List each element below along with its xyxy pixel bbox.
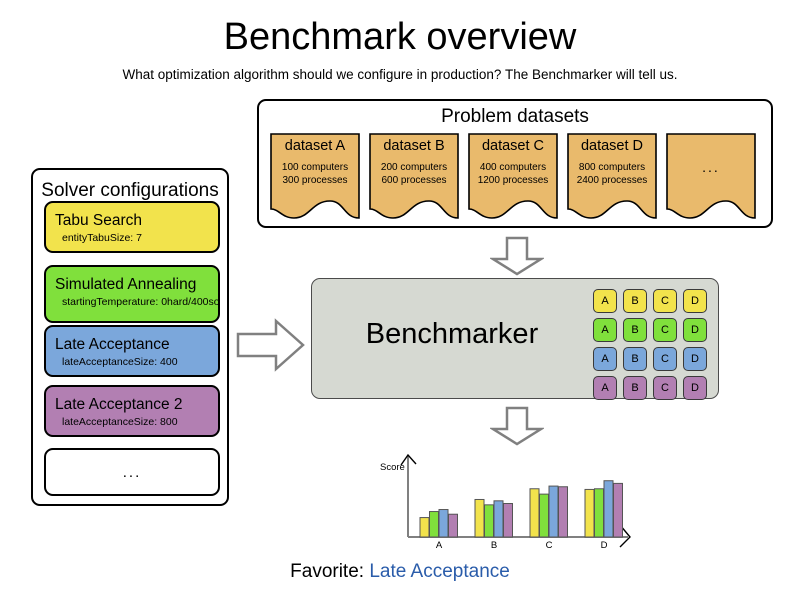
chart-y-axis-label: Score (380, 462, 405, 473)
chart-bar (504, 504, 513, 538)
dataset-shape (270, 133, 360, 219)
chart-x-tick-label: D (601, 540, 608, 551)
benchmark-chip[interactable]: B (623, 347, 647, 371)
arrow-down-datasets-to-benchmarker (490, 236, 544, 276)
solver-configurations-panel: Solver configurations Tabu Search entity… (31, 168, 229, 506)
chart-x-tick-label: B (491, 540, 497, 551)
dataset-shape (567, 133, 657, 219)
benchmark-chip[interactable]: A (593, 289, 617, 313)
benchmark-matrix: ABCDABCDABCDABCD (593, 289, 707, 400)
solver-config-name: Tabu Search (55, 212, 218, 229)
benchmark-chip[interactable]: B (623, 318, 647, 342)
solver-config-card-late-acceptance[interactable]: Late Acceptance lateAcceptanceSize: 400 (44, 325, 220, 377)
chart-bar (595, 489, 604, 537)
solver-config-card-late-acceptance-2[interactable]: Late Acceptance 2 lateAcceptanceSize: 80… (44, 385, 220, 437)
dataset-shape (468, 133, 558, 219)
chart-bar (449, 514, 458, 537)
solver-config-param: startingTemperature: 0hard/400soft (55, 296, 218, 309)
benchmark-chip[interactable]: A (593, 376, 617, 400)
chart-bar (485, 505, 494, 537)
chart-bar (549, 486, 558, 537)
favorite-result: Favorite: Late Acceptance (0, 560, 800, 584)
dataset-shape (666, 133, 756, 219)
benchmarker-box[interactable]: Benchmarker ABCDABCDABCDABCD (311, 278, 719, 399)
benchmark-chip[interactable]: D (683, 289, 707, 313)
solver-config-name: Late Acceptance (55, 336, 218, 353)
chart-x-tick-label: C (546, 540, 553, 551)
dataset-shape (369, 133, 459, 219)
chart-svg: ScoreABCD (378, 448, 650, 553)
problem-datasets-list: dataset A100 computers300 processesdatas… (270, 133, 756, 219)
problem-datasets-title: Problem datasets (259, 105, 771, 129)
benchmark-result-chart: ScoreABCD (378, 448, 650, 553)
benchmark-chip[interactable]: C (653, 318, 677, 342)
dataset-card[interactable]: dataset B200 computers600 processes (369, 133, 459, 219)
chart-bar (585, 489, 594, 537)
chart-bar (494, 501, 503, 537)
solver-config-card-simulated-annealing[interactable]: Simulated Annealing startingTemperature:… (44, 265, 220, 323)
solver-config-card-more[interactable]: ... (44, 448, 220, 496)
benchmark-chip[interactable]: D (683, 318, 707, 342)
chart-bar (559, 487, 568, 537)
solver-config-ellipsis-label: ... (123, 464, 142, 481)
dataset-card[interactable]: dataset C400 computers1200 processes (468, 133, 558, 219)
chart-x-tick-label: A (436, 540, 443, 551)
benchmark-chip[interactable]: D (683, 376, 707, 400)
dataset-card[interactable]: dataset D800 computers2400 processes (567, 133, 657, 219)
solver-config-name: Simulated Annealing (55, 276, 218, 293)
chart-bar (439, 510, 448, 537)
arrow-right-configs-to-benchmarker (236, 318, 306, 372)
page-title: Benchmark overview (0, 16, 800, 58)
diagram-canvas: Benchmark overview What optimization alg… (0, 0, 800, 600)
dataset-card[interactable]: dataset A100 computers300 processes (270, 133, 360, 219)
benchmark-chip[interactable]: B (623, 289, 647, 313)
arrow-down-benchmarker-to-chart (490, 406, 544, 446)
chart-bar (540, 494, 549, 537)
benchmark-chip[interactable]: B (623, 376, 647, 400)
chart-bar (530, 489, 539, 537)
chart-bar (475, 499, 484, 537)
benchmark-chip[interactable]: A (593, 347, 617, 371)
chart-bar (430, 512, 439, 537)
solver-config-name: Late Acceptance 2 (55, 396, 218, 413)
benchmark-chip[interactable]: A (593, 318, 617, 342)
benchmark-chip[interactable]: D (683, 347, 707, 371)
benchmarker-label: Benchmarker (312, 317, 592, 351)
favorite-label: Favorite: (290, 561, 364, 582)
solver-config-param: entityTabuSize: 7 (55, 232, 218, 245)
solver-config-card-tabu-search[interactable]: Tabu Search entityTabuSize: 7 (44, 201, 220, 253)
benchmark-chip[interactable]: C (653, 376, 677, 400)
problem-datasets-panel: Problem datasets dataset A100 computers3… (257, 99, 773, 228)
chart-bar (614, 483, 623, 537)
solver-configurations-title: Solver configurations (33, 179, 227, 203)
dataset-card[interactable]: ... (666, 133, 756, 219)
benchmark-chip[interactable]: C (653, 347, 677, 371)
solver-config-param: lateAcceptanceSize: 400 (55, 356, 218, 369)
favorite-value: Late Acceptance (369, 561, 510, 582)
benchmark-chip[interactable]: C (653, 289, 677, 313)
solver-config-param: lateAcceptanceSize: 800 (55, 416, 218, 429)
chart-bar (420, 518, 429, 537)
chart-bar (604, 481, 613, 537)
page-subtitle: What optimization algorithm should we co… (0, 66, 800, 84)
